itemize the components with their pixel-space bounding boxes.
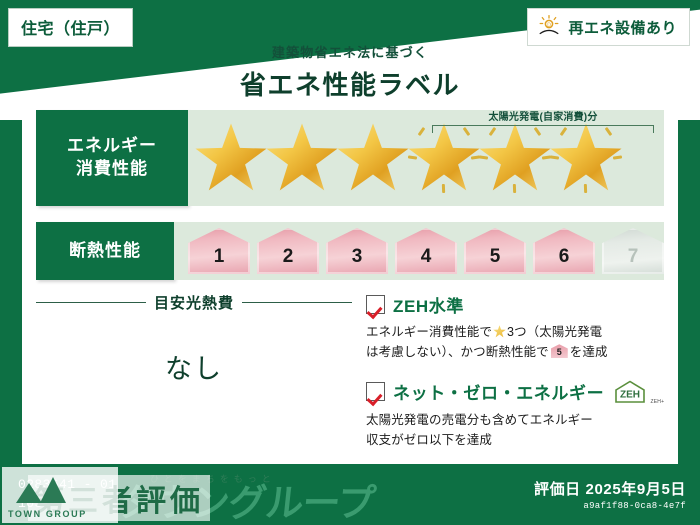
solar-annotation-bracket: [432, 125, 654, 133]
solar-sparkle-mark: [408, 155, 417, 159]
insulation-grade-marker: 1: [188, 228, 250, 274]
net-zero-desc-part1: 太陽光発電の売電分も含めてエネルギー: [366, 413, 593, 427]
zeh-standard-block: ZEH水準 エネルギー消費性能で3つ（太陽光発電 は考慮しない）、かつ断熱性能で…: [366, 292, 664, 363]
net-zero-title-row: ネット・ゼロ・エネルギー ZEH ZEH+: [366, 379, 664, 405]
star-icon: [265, 122, 339, 194]
star-icon: [194, 122, 268, 194]
zeh-desc-part4: を達成: [570, 345, 608, 359]
solar-sparkle-mark: [442, 184, 445, 193]
svg-text:ZEH: ZEH: [620, 389, 640, 400]
zeh-standard-title: ZEH水準: [393, 292, 464, 317]
insulation-performance-row: 断熱性能 1234567: [36, 222, 664, 280]
heading-rule-right: [242, 302, 352, 303]
insulation-grade-number: 1: [188, 228, 250, 274]
zeh-criteria-panel: ZEH水準 エネルギー消費性能で3つ（太陽光発電 は考慮しない）、かつ断熱性能で…: [352, 290, 664, 456]
label-title: 省エネ性能ラベル: [0, 65, 700, 102]
insulation-grade-marker: 5: [464, 228, 526, 274]
insulation-grade-marker: 6: [533, 228, 595, 274]
heading-rule-left: [36, 302, 146, 303]
footer-evaluation-info: 評価日 2025年9月5日 a9af1f88-0ca8-4e7f: [534, 478, 686, 511]
solar-sparkle-mark: [513, 184, 516, 193]
energy-label-line2: 消費性能: [76, 158, 148, 181]
utility-cost-heading-row: 目安光熱費: [36, 292, 352, 313]
energy-performance-label: 住宅（住戸） D 再エネ設備あり 建築物省エネ法に基づく 省エネ性能ラベル: [0, 0, 700, 525]
insulation-grade-marker: 4: [395, 228, 457, 274]
insulation-grade-marker: 3: [326, 228, 388, 274]
net-zero-energy-block: ネット・ゼロ・エネルギー ZEH ZEH+ 太陽光発電の売電分も含めてエネルギー…: [366, 379, 664, 451]
svg-text:D: D: [548, 22, 552, 28]
zeh-desc-part1: エネルギー消費性能で: [366, 325, 492, 339]
insulation-grade-marker: 7: [602, 228, 664, 274]
insulation-grade-number: 3: [326, 228, 388, 274]
net-zero-description: 太陽光発電の売電分も含めてエネルギー 収支がゼロ以下を達成: [366, 410, 664, 451]
evaluation-hash: a9af1f88-0ca8-4e7f: [534, 501, 686, 511]
insulation-grade-number: 5: [464, 228, 526, 274]
solar-sparkle-mark: [550, 155, 559, 159]
zeh-logo-caption: ZEH+: [650, 399, 664, 405]
zeh-desc-part3: は考慮しない）、かつ断熱性能で: [366, 345, 549, 359]
energy-label-line1: エネルギー: [67, 135, 157, 158]
building-type-tag: 住宅（住戸）: [8, 8, 133, 47]
lower-section: 目安光熱費 なし ZEH水準 エネルギー消費性能で3つ（太陽光発電 は考慮しない…: [36, 290, 664, 456]
insulation-grade-number: 2: [257, 228, 319, 274]
sun-icon: D: [537, 13, 561, 42]
insulation-label: 断熱性能: [69, 240, 141, 263]
solar-annotation-text: 太陽光発電(自家消費)分: [432, 108, 654, 123]
utility-cost-panel: 目安光熱費 なし: [36, 290, 352, 456]
insulation-grade-marker: 2: [257, 228, 319, 274]
energy-performance-label-block: エネルギー 消費性能: [36, 110, 188, 206]
insulation-performance-label-block: 断熱性能: [36, 222, 174, 280]
net-zero-title: ネット・ゼロ・エネルギー: [393, 379, 604, 404]
solar-sparkle-mark: [479, 155, 488, 159]
net-zero-desc-part2: 収支がゼロ以下を達成: [366, 433, 492, 447]
solar-sparkle-mark: [418, 127, 426, 136]
label-footer: 0283641 - 01 103 評価日 2025年9月5日 a9af1f88-…: [0, 464, 700, 525]
footer-ref-line2: 103: [18, 495, 116, 514]
solar-sparkle-mark: [613, 155, 622, 159]
solar-generation-annotation: 太陽光発電(自家消費)分: [432, 108, 654, 133]
zeh-standard-title-row: ZEH水準: [366, 292, 664, 317]
insulation-grade-icon-value: 5: [551, 344, 568, 358]
insulation-grade-icon: 5: [551, 344, 568, 358]
star-icon: [493, 325, 506, 338]
insulation-grade-area: 1234567: [174, 222, 664, 280]
zeh-desc-part2: 3つ（太陽光発電: [507, 325, 602, 339]
insulation-grade-number: 7: [602, 228, 664, 274]
insulation-grade-number: 4: [395, 228, 457, 274]
utility-cost-heading: 目安光熱費: [154, 292, 234, 313]
renewable-badge-label: 再エネ設備あり: [568, 17, 677, 38]
zeh-standard-description: エネルギー消費性能で3つ（太陽光発電 は考慮しない）、かつ断熱性能で5を達成: [366, 322, 664, 363]
solar-sparkle-mark: [584, 184, 587, 193]
star-icon: [336, 122, 410, 194]
zeh-standard-checkbox[interactable]: [366, 295, 385, 314]
renewable-equipment-badge: D 再エネ設備あり: [527, 8, 690, 46]
insulation-grade-group: 1234567: [174, 222, 664, 280]
footer-ref-line1: 0283641 - 01: [18, 476, 116, 495]
insulation-grade-number: 6: [533, 228, 595, 274]
net-zero-checkbox[interactable]: [366, 382, 385, 401]
footer-reference-id: 0283641 - 01 103: [18, 476, 116, 514]
evaluation-date: 評価日 2025年9月5日: [534, 478, 686, 499]
zeh-house-logo-icon: ZEH ZEH+: [612, 379, 648, 405]
utility-cost-value: なし: [36, 347, 352, 386]
label-header: 建築物省エネ法に基づく 省エネ性能ラベル: [0, 42, 700, 102]
